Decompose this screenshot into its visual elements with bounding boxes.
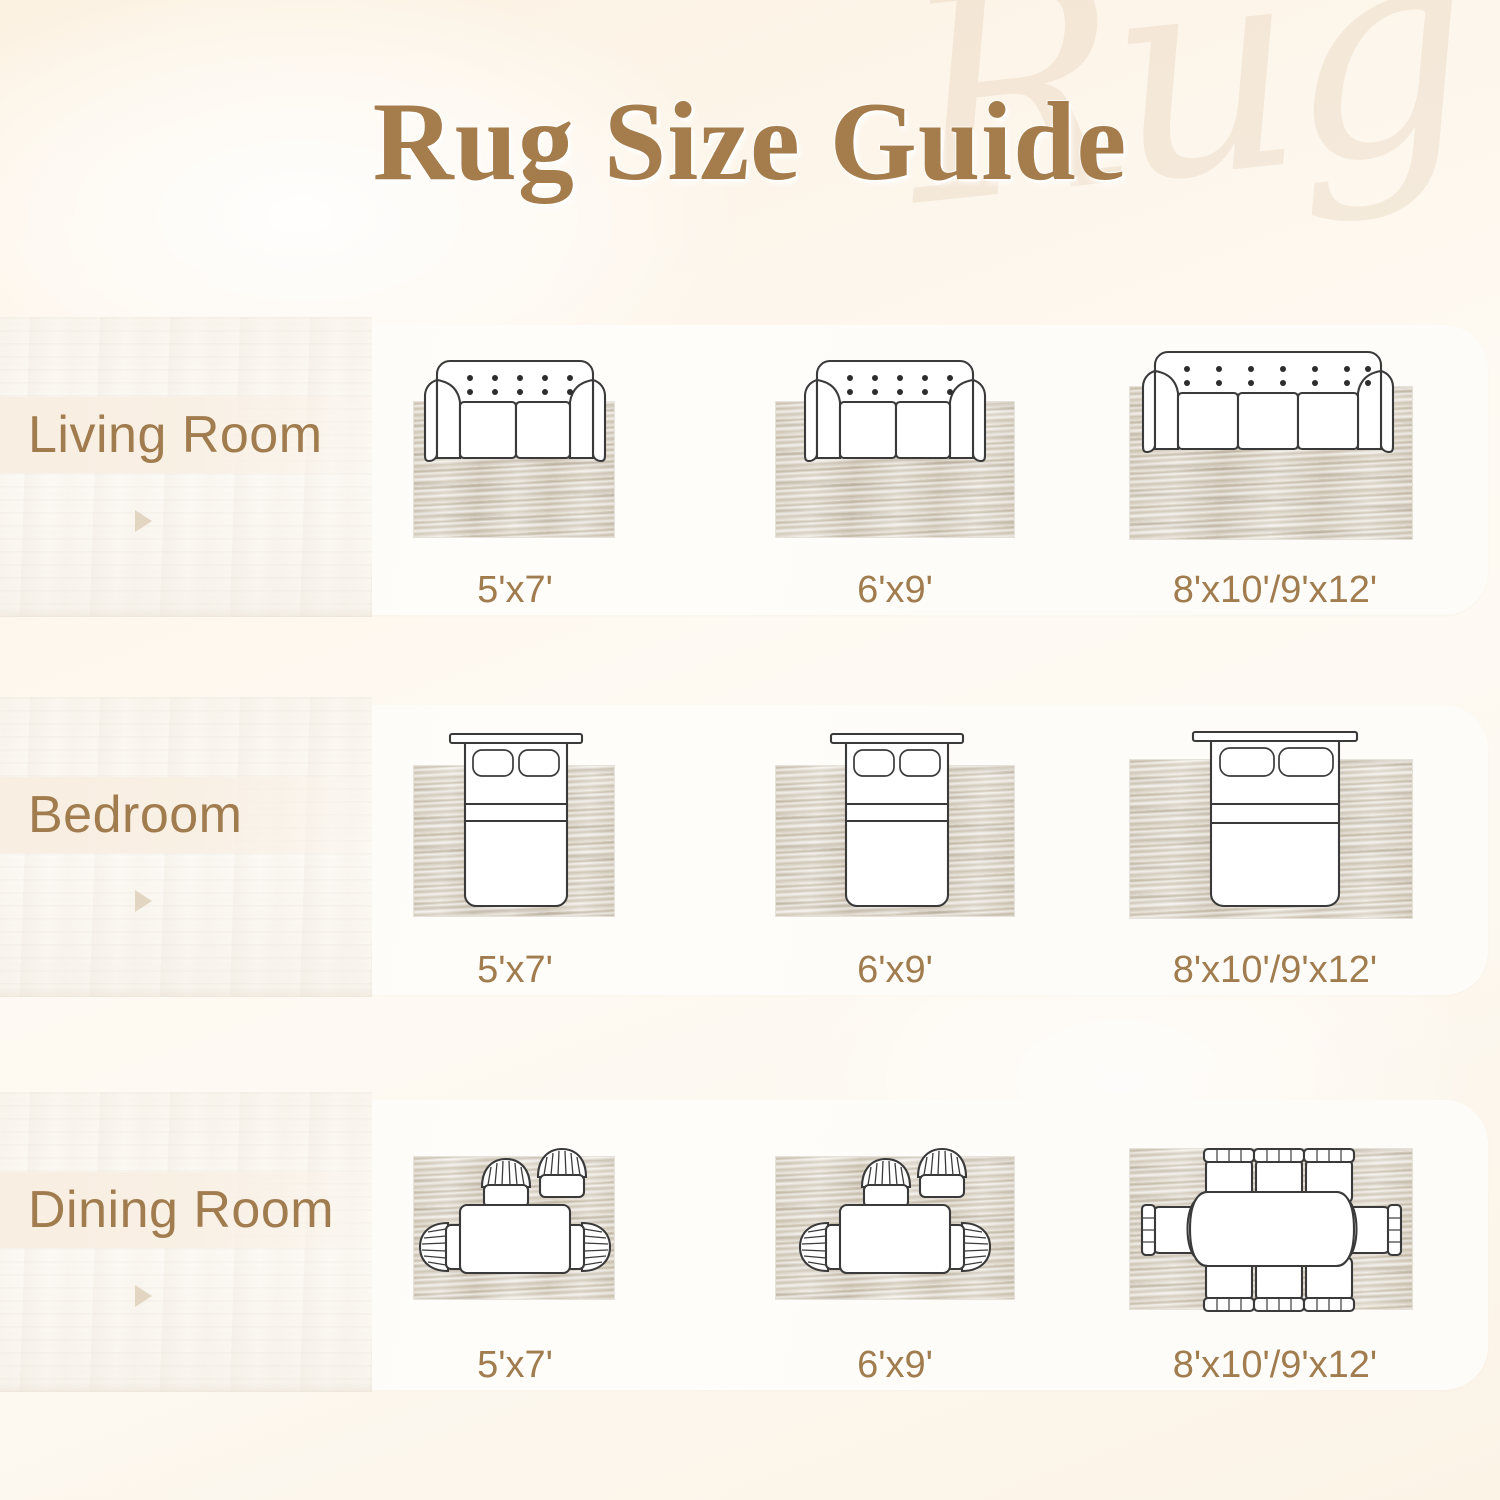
column-dining-room-8x10: 8'x10'/9'x12' [1110, 1100, 1440, 1390]
size-label: 6'x9' [770, 1342, 1020, 1388]
dining-set-illustration [1132, 1147, 1412, 1313]
section-living-room: Living Room [0, 325, 1490, 615]
column-bedroom-6x9: 6'x9' [770, 705, 1020, 995]
column-bedroom-5x7: 5'x7' [400, 705, 630, 995]
size-label: 5'x7' [400, 1342, 630, 1388]
triangle-marker-icon [135, 510, 152, 532]
rug-size-guide-infographic: Rug Rug Size Guide Living Room [0, 0, 1500, 1500]
size-label: 5'x7' [400, 567, 630, 613]
dining-set-illustration [406, 1147, 624, 1307]
section-title-dining-room: Dining Room [28, 1178, 428, 1242]
sofa-illustration [802, 358, 988, 468]
section-dining-room: Dining Room [0, 1100, 1490, 1390]
section-title-bedroom: Bedroom [28, 783, 428, 847]
size-label: 5'x7' [400, 947, 630, 993]
sofa-illustration [1140, 349, 1396, 461]
column-living-room-5x7: 5'x7' [400, 325, 630, 615]
size-label: 6'x9' [770, 947, 1020, 993]
dining-set-illustration [786, 1147, 1004, 1307]
bed-illustration [827, 728, 967, 914]
size-label: 8'x10'/9'x12' [1110, 1342, 1440, 1388]
column-bedroom-8x10: 8'x10'/9'x12' [1110, 705, 1440, 995]
column-dining-room-6x9: 6'x9' [770, 1100, 1020, 1390]
bed-illustration [1189, 726, 1361, 914]
bed-illustration [446, 728, 586, 914]
size-label: 8'x10'/9'x12' [1110, 947, 1440, 993]
size-label: 6'x9' [770, 567, 1020, 613]
column-living-room-8x10: 8'x10'/9'x12' [1110, 325, 1440, 615]
size-label: 8'x10'/9'x12' [1110, 567, 1440, 613]
section-title-living-room: Living Room [28, 403, 428, 467]
page-title: Rug Size Guide [0, 86, 1500, 198]
triangle-marker-icon [135, 1285, 152, 1307]
sofa-illustration [422, 358, 608, 468]
column-dining-room-5x7: 5'x7' [400, 1100, 630, 1390]
triangle-marker-icon [135, 890, 152, 912]
column-living-room-6x9: 6'x9' [770, 325, 1020, 615]
section-bedroom: Bedroom 5'x7' [0, 705, 1490, 995]
